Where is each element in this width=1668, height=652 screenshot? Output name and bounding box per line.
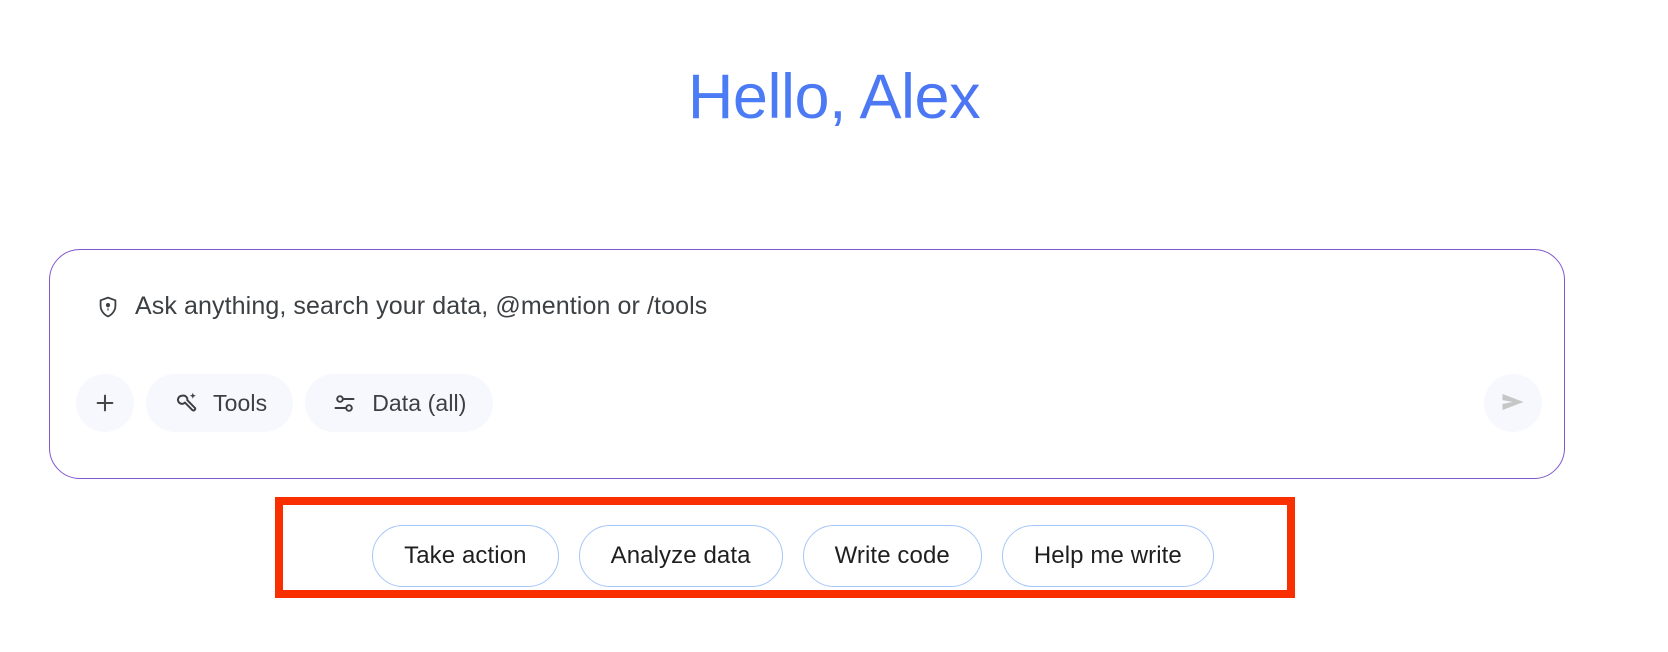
prompt-composer[interactable]: Ask anything, search your data, @mention… [49, 249, 1565, 479]
suggestion-chip-label: Take action [404, 542, 527, 570]
data-scope-button[interactable]: Data (all) [305, 374, 492, 432]
suggestion-chip-help-me-write[interactable]: Help me write [1002, 525, 1214, 587]
wrench-sparkle-icon [172, 390, 199, 417]
plus-icon [92, 390, 118, 416]
add-attachment-button[interactable] [76, 374, 134, 432]
suggestion-chip-label: Write code [835, 542, 950, 570]
tune-sliders-icon [331, 390, 358, 417]
suggestion-chip-label: Analyze data [611, 542, 751, 570]
suggestion-chip-take-action[interactable]: Take action [372, 525, 559, 587]
send-icon [1498, 387, 1528, 420]
tools-button[interactable]: Tools [146, 374, 293, 432]
composer-toolbar: Tools Data (all) [76, 374, 493, 432]
suggestion-chip-write-code[interactable]: Write code [803, 525, 982, 587]
suggestion-chip-label: Help me write [1034, 542, 1182, 570]
tools-button-label: Tools [213, 390, 267, 417]
data-scope-label: Data (all) [372, 390, 466, 417]
greeting-heading: Hello, Alex [0, 62, 1668, 133]
suggestion-chip-row: Take action Analyze data Write code Help… [283, 505, 1303, 606]
suggestion-chip-analyze-data[interactable]: Analyze data [579, 525, 783, 587]
highlight-annotation-rectangle: Take action Analyze data Write code Help… [275, 497, 1295, 598]
prompt-placeholder[interactable]: Ask anything, search your data, @mention… [135, 292, 707, 321]
prompt-input-row[interactable]: Ask anything, search your data, @mention… [96, 292, 707, 321]
send-button[interactable] [1484, 374, 1542, 432]
shield-lock-icon [96, 295, 120, 319]
